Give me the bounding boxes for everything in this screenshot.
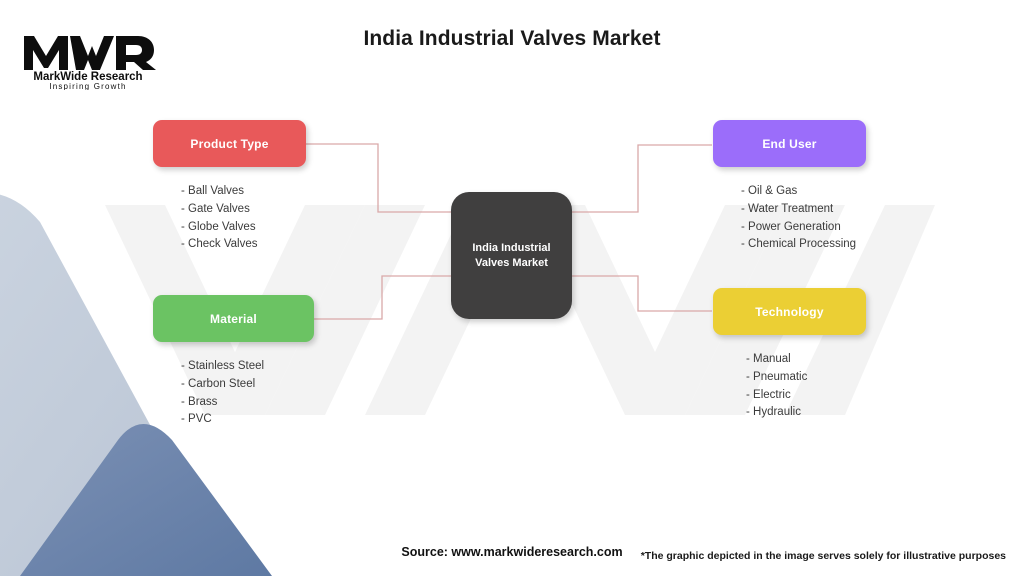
connector-technology <box>572 276 712 311</box>
category-header-product-type[interactable]: Product Type <box>153 120 306 167</box>
category-header-technology[interactable]: Technology <box>713 288 866 335</box>
page-title: India Industrial Valves Market <box>0 27 1024 51</box>
category-title-material: Material <box>210 312 257 326</box>
center-node[interactable]: India Industrial Valves Market <box>451 192 572 319</box>
category-header-end-user[interactable]: End User <box>713 120 866 167</box>
list-item: - Pneumatic <box>746 369 866 387</box>
list-item: - PVC <box>181 411 314 429</box>
category-block-technology: Technology - Manual - Pneumatic - Electr… <box>713 288 866 422</box>
center-node-line1: India Industrial <box>472 242 550 254</box>
list-item: - Brass <box>181 394 314 412</box>
category-block-end-user: End User - Oil & Gas - Water Treatment -… <box>713 120 866 254</box>
category-items-material: - Stainless Steel - Carbon Steel - Brass… <box>153 358 314 429</box>
connector-end-user <box>572 145 712 212</box>
list-item: - Power Generation <box>741 219 866 237</box>
category-title-product-type: Product Type <box>190 137 268 151</box>
list-item: - Chemical Processing <box>741 236 866 254</box>
logo-tagline: Inspiring Growth <box>49 82 126 90</box>
list-item: - Carbon Steel <box>181 376 314 394</box>
category-block-material: Material - Stainless Steel - Carbon Stee… <box>153 295 314 429</box>
category-items-end-user: - Oil & Gas - Water Treatment - Power Ge… <box>713 183 866 254</box>
list-item: - Water Treatment <box>741 201 866 219</box>
list-item: - Globe Valves <box>181 219 306 237</box>
disclaimer-note: *The graphic depicted in the image serve… <box>641 550 1006 562</box>
category-items-product-type: - Ball Valves - Gate Valves - Globe Valv… <box>153 183 306 254</box>
category-title-end-user: End User <box>762 137 816 151</box>
list-item: - Ball Valves <box>181 183 306 201</box>
center-node-line2: Valves Market <box>475 257 548 269</box>
list-item: - Gate Valves <box>181 201 306 219</box>
list-item: - Check Valves <box>181 236 306 254</box>
list-item: - Manual <box>746 351 866 369</box>
infographic-canvas: MarkWide Research Inspiring Growth India… <box>0 0 1024 576</box>
category-items-technology: - Manual - Pneumatic - Electric - Hydrau… <box>713 351 866 422</box>
list-item: - Stainless Steel <box>181 358 314 376</box>
list-item: - Electric <box>746 387 866 405</box>
connector-product-type <box>306 144 452 212</box>
connector-material <box>314 276 452 319</box>
list-item: - Hydraulic <box>746 404 866 422</box>
category-header-material[interactable]: Material <box>153 295 314 342</box>
category-title-technology: Technology <box>755 305 823 319</box>
center-node-label: India Industrial Valves Market <box>464 241 558 271</box>
list-item: - Oil & Gas <box>741 183 866 201</box>
category-block-product-type: Product Type - Ball Valves - Gate Valves… <box>153 120 306 254</box>
